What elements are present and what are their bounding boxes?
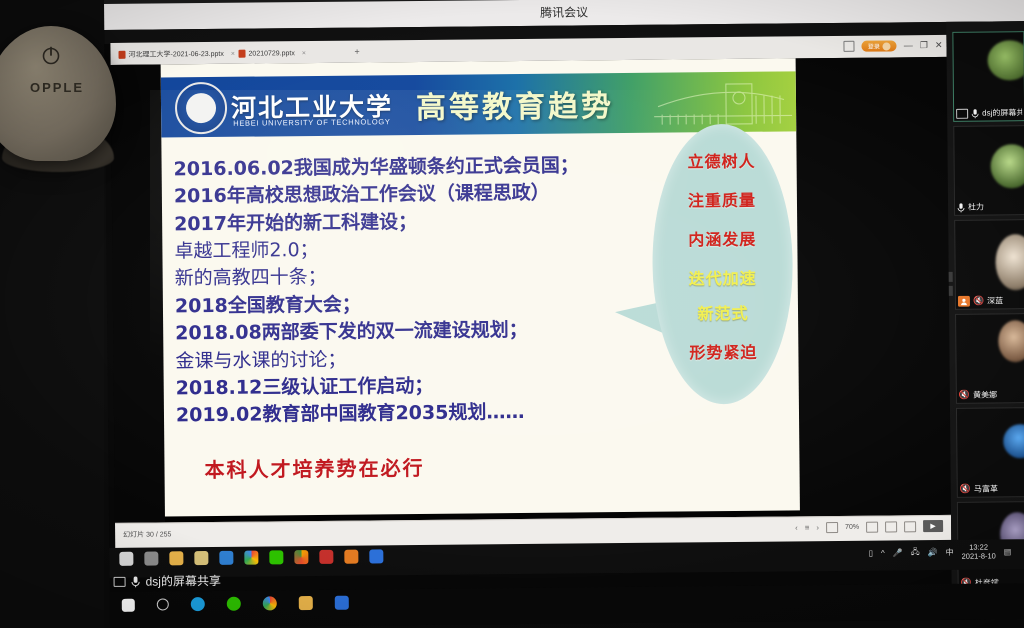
campus-gate-illustration-icon — [652, 75, 792, 128]
slide-counter: 幻灯片 30 / 255 — [123, 529, 171, 539]
close-button[interactable]: ✕ — [935, 41, 943, 50]
zoom-level[interactable]: 70% — [845, 523, 859, 530]
powerpoint-window: 河北理工大学-2021-06-23.pptx × 20210729.pptx ×… — [110, 35, 951, 548]
ppt-tab-1-close-icon[interactable]: × — [231, 50, 235, 57]
wechat-icon[interactable] — [227, 597, 241, 611]
screen-share-text: dsj的屏幕共享 — [145, 572, 221, 590]
slide-letterbox-left — [111, 64, 165, 522]
participant-name: 马富革 — [974, 483, 998, 494]
participant-name: 杜力 — [968, 202, 984, 213]
power-icon — [40, 44, 62, 66]
wechat-icon[interactable] — [269, 550, 283, 564]
powerpoint-file-icon — [238, 50, 245, 58]
callout-line-4: 迭代加速 — [653, 264, 793, 289]
mic-icon — [971, 108, 979, 118]
store-icon[interactable] — [194, 551, 208, 565]
mail-icon[interactable] — [219, 551, 233, 565]
ppt-tab-2-label: 20210729.pptx — [248, 50, 294, 57]
host-taskbar-icons — [122, 596, 349, 612]
tencent-meeting-icon[interactable] — [335, 596, 349, 610]
slide[interactable]: 河北工业大学 HEBEI UNIVERSITY OF TECHNOLOGY 高等… — [161, 58, 800, 516]
participant-tile-2[interactable]: 杜力 — [953, 125, 1024, 216]
minimize-button[interactable]: — — [904, 41, 913, 50]
browser-icon[interactable] — [294, 550, 308, 564]
mic-icon — [131, 575, 141, 587]
window-controls: 登录 — ❐ ✕ — [844, 37, 943, 55]
slide-line-10: 2019.02教育部中国教育2035规划…… — [176, 398, 676, 430]
tray-expand-icon[interactable]: ^ — [881, 549, 885, 558]
ime-indicator[interactable]: 中 — [946, 547, 954, 558]
participant-tile-4[interactable]: 🔇 黄美娜 — [955, 313, 1024, 404]
callout-line-1: 立德树人 — [651, 147, 791, 172]
notes-view-icon[interactable] — [904, 521, 916, 532]
slide-title: 高等教育趋势 — [416, 81, 614, 127]
reading-view-icon[interactable] — [866, 521, 878, 532]
callout-line-3: 内涵发展 — [652, 225, 792, 250]
slide-letterbox-right — [796, 57, 951, 516]
system-tray: ▯ ^ 🎤 🖧 🔊 中 13:22 2021-8-10 ▤ — [868, 543, 1011, 562]
battery-icon[interactable]: ▯ — [869, 549, 873, 558]
slide-header-band: 河北工业大学 HEBEI UNIVERSITY OF TECHNOLOGY 高等… — [161, 71, 797, 137]
network-icon[interactable]: 🖧 — [911, 546, 920, 560]
screen-share-icon — [114, 576, 126, 586]
wechat-active-icon[interactable] — [344, 550, 358, 564]
inner-taskbar-icons — [119, 549, 383, 566]
participant-tile-3[interactable]: 🔇 深蓝 — [954, 219, 1024, 310]
slide-canvas-area: 河北工业大学 HEBEI UNIVERSITY OF TECHNOLOGY 高等… — [111, 57, 951, 523]
microphone-icon[interactable]: 🎤 — [893, 548, 903, 557]
ppt-tab-1-label: 河北理工大学-2021-06-23.pptx — [128, 49, 223, 60]
ribbon-options-icon[interactable] — [844, 41, 855, 52]
powerpoint-file-icon — [118, 51, 125, 59]
participant-tile-1[interactable]: dsj的屏幕共享 — [952, 31, 1024, 122]
volume-icon[interactable]: 🔊 — [928, 548, 938, 557]
account-label: 登录 — [868, 42, 880, 51]
slide-body-text: 2016.06.02我国成为华盛顿条约正式会员国； 2016年高校思想政治工作会… — [174, 152, 677, 430]
mic-muted-icon: 🔇 — [960, 484, 971, 495]
notifications-icon[interactable]: ▤ — [1004, 547, 1012, 556]
slide-conclusion: 本科人才培养势在必行 — [204, 452, 424, 483]
strip-scrollbar[interactable] — [949, 272, 953, 282]
new-tab-button[interactable]: + — [354, 47, 359, 57]
internet-explorer-icon[interactable] — [191, 597, 205, 611]
university-logo-icon — [175, 82, 227, 134]
normal-view-icon[interactable] — [826, 521, 838, 532]
file-explorer-icon[interactable] — [299, 596, 313, 610]
slideshow-play-button[interactable]: ▶ — [923, 520, 943, 532]
screenshot-root: 腾讯会议 河北理工大学-2021-06-23.pptx × 20210729.p… — [0, 0, 1024, 628]
avatar — [883, 42, 891, 50]
slide-menu-icon[interactable]: ≡ — [805, 523, 810, 532]
mic-muted-icon: 🔇 — [959, 390, 970, 401]
callout-bubble: 立德树人 注重质量 内涵发展 迭代加速 新范式 形势紧迫 — [651, 123, 794, 404]
search-icon[interactable] — [157, 598, 169, 610]
tencent-meeting-icon[interactable] — [369, 549, 383, 563]
participant-name: 黄美娜 — [973, 389, 997, 400]
lamp-brand-label: OPPLE — [12, 80, 102, 95]
mic-icon — [957, 202, 965, 212]
ppt-tab-2-close-icon[interactable]: × — [302, 50, 306, 57]
taskbar-clock[interactable]: 13:22 2021-8-10 — [961, 543, 995, 561]
laptop-screen: 腾讯会议 河北理工大学-2021-06-23.pptx × 20210729.p… — [104, 0, 1024, 628]
participant-label: 🔇 马富革 — [960, 483, 1024, 495]
word-icon[interactable] — [319, 550, 333, 564]
strip-scrollbar[interactable] — [949, 286, 953, 296]
participant-strip: dsj的屏幕共享 杜力 — [946, 21, 1024, 584]
participant-name: 深蓝 — [987, 295, 1003, 306]
slide-sorter-icon[interactable] — [885, 521, 897, 532]
file-explorer-icon[interactable] — [169, 551, 183, 565]
ppt-tab-1[interactable]: 河北理工大学-2021-06-23.pptx × — [118, 46, 235, 63]
participant-label: 杜力 — [957, 201, 1023, 213]
start-icon[interactable] — [122, 598, 135, 611]
mic-muted-icon: 🔇 — [973, 296, 984, 307]
user-avatar-icon — [958, 296, 970, 307]
university-name-en: HEBEI UNIVERSITY OF TECHNOLOGY — [233, 117, 391, 128]
screen-share-banner: dsj的屏幕共享 — [114, 572, 222, 590]
status-bar-controls: ‹ ≡ › 70% ▶ — [795, 520, 943, 533]
ppt-tab-2[interactable]: 20210729.pptx × — [238, 45, 306, 62]
participant-label: 🔇 黄美娜 — [959, 389, 1024, 401]
next-slide-icon[interactable]: › — [816, 523, 819, 532]
chrome-icon[interactable] — [263, 596, 277, 610]
start-icon[interactable] — [119, 552, 133, 566]
participant-label: 🔇 深蓝 — [958, 295, 1024, 307]
participant-tile-5[interactable]: 🔇 马富革 — [956, 407, 1024, 498]
screen-share-icon — [956, 108, 968, 118]
task-view-icon[interactable] — [144, 552, 158, 566]
participant-label: dsj的屏幕共享 — [956, 107, 1022, 119]
participant-name: dsj的屏幕共享 — [982, 107, 1022, 118]
chrome-icon[interactable] — [244, 551, 258, 565]
account-button[interactable]: 登录 — [862, 40, 897, 51]
callout-line-2: 注重质量 — [652, 186, 792, 211]
restore-button[interactable]: ❐ — [920, 41, 928, 50]
clock-date: 2021-8-10 — [962, 551, 996, 560]
prev-slide-icon[interactable]: ‹ — [795, 523, 798, 532]
callout-line-6: 形势紧迫 — [653, 338, 793, 363]
callout-line-5: 新范式 — [653, 299, 793, 324]
